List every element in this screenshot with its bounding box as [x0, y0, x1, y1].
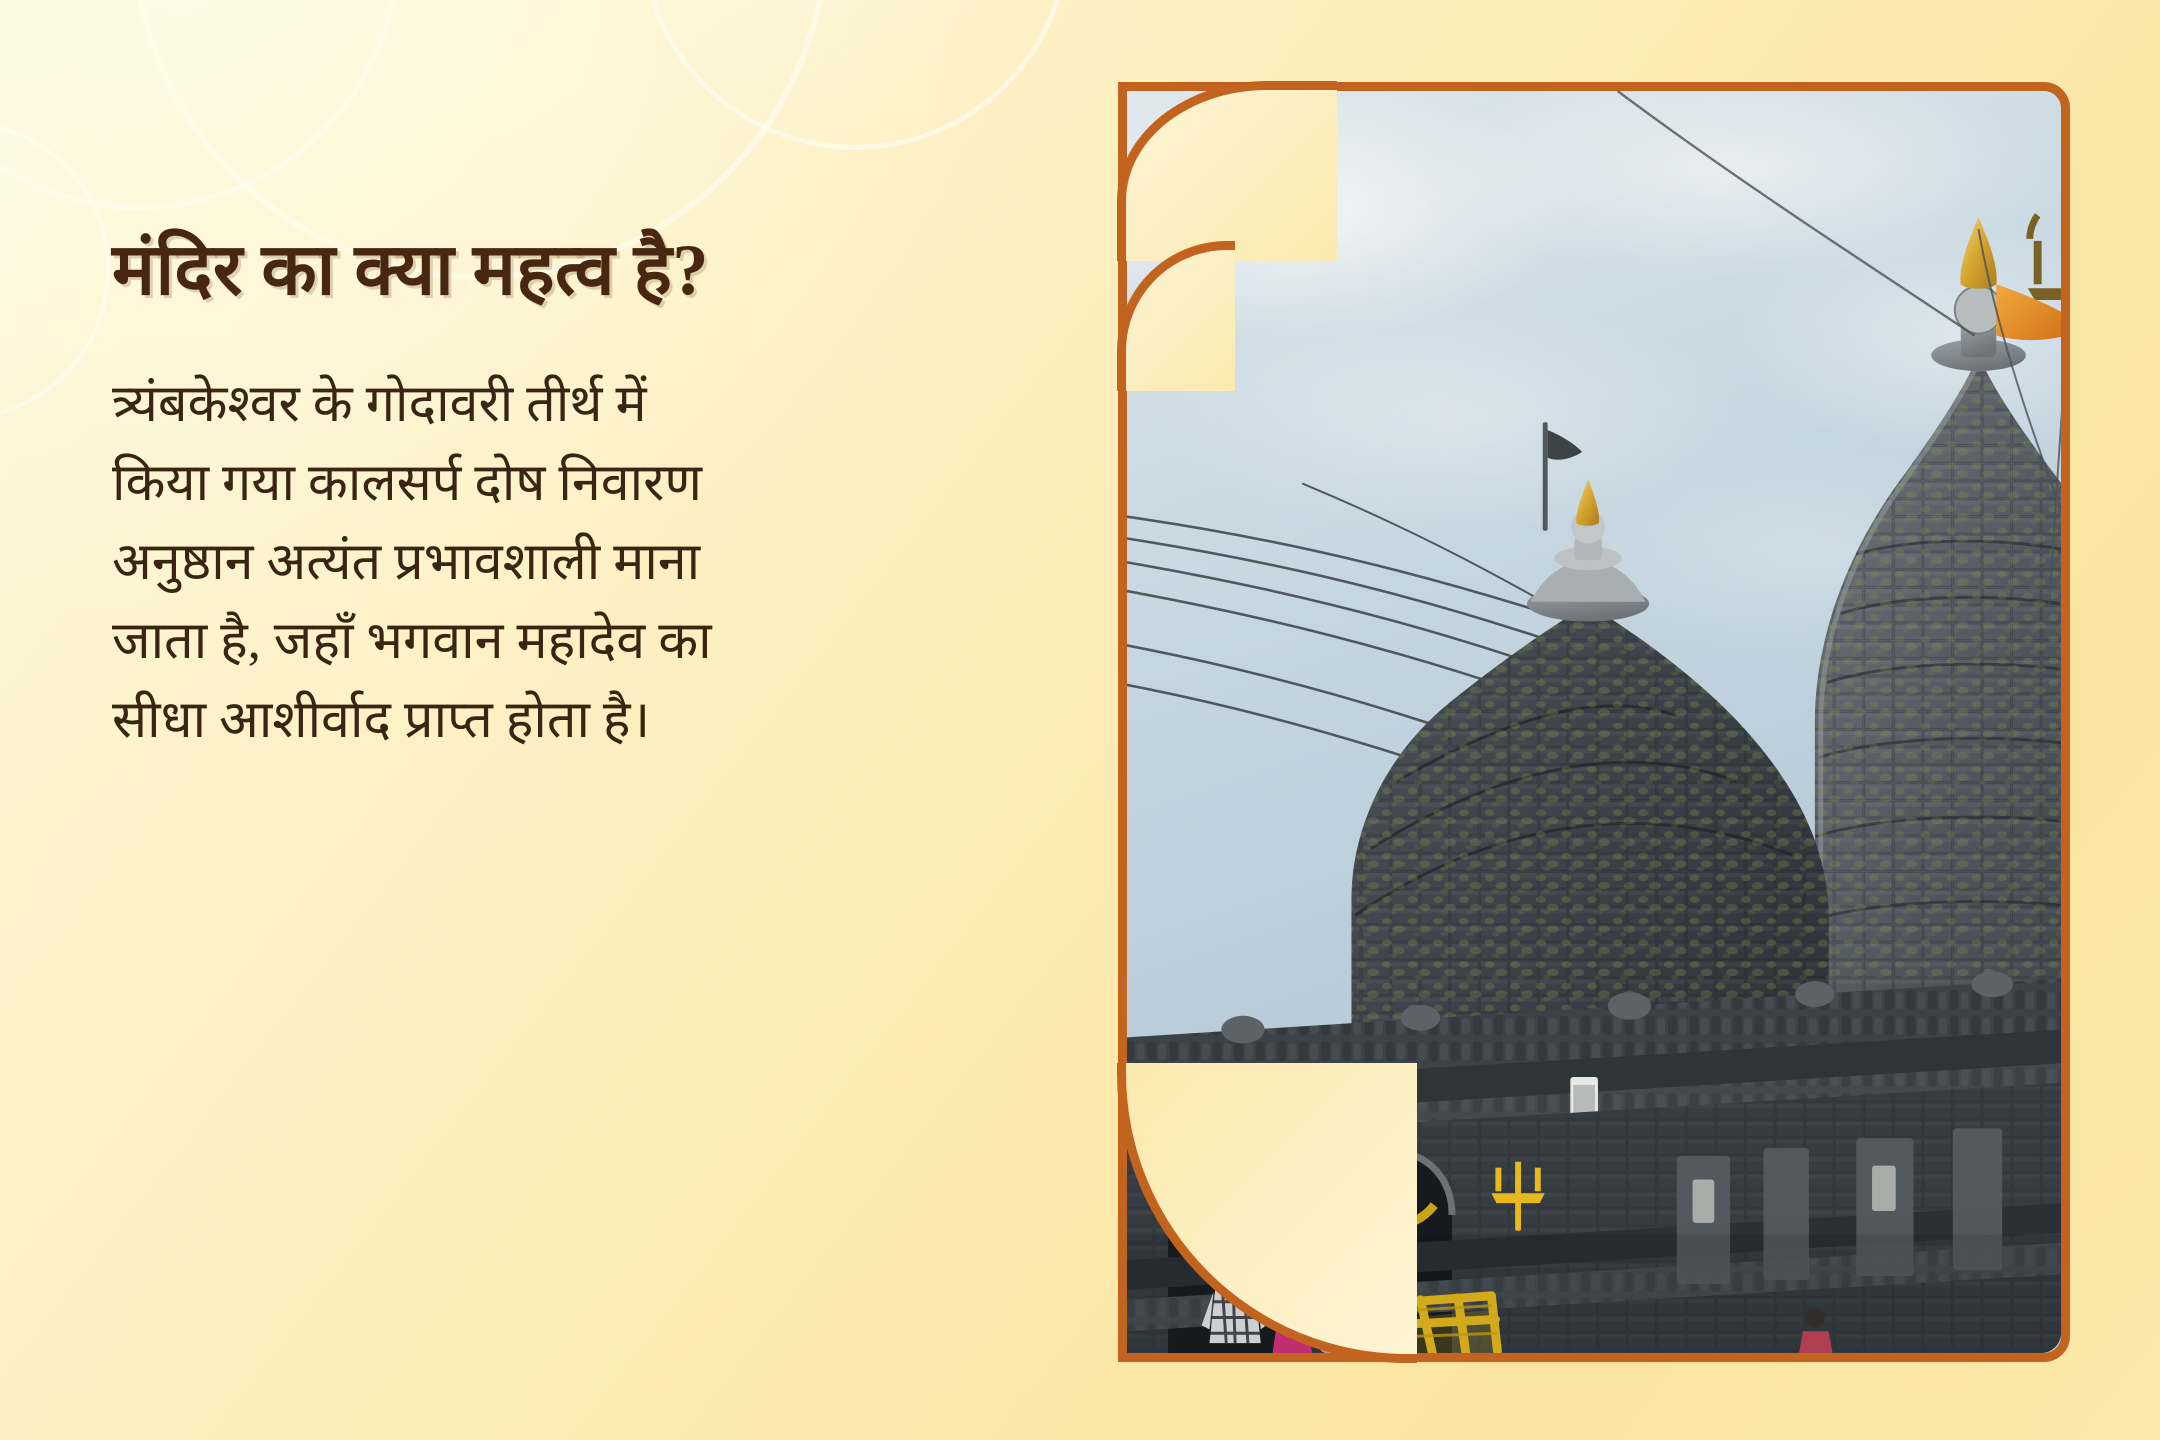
body-paragraph: त्र्यंबकेश्वर के गोदावरी तीर्थ में किया …: [112, 365, 1012, 760]
paragraph-line: किया गया कालसर्प दोष निवारण: [112, 444, 1012, 523]
paragraph-line: अनुष्ठान अत्यंत प्रभावशाली माना: [112, 523, 1012, 602]
paragraph-line: त्र्यंबकेश्वर के गोदावरी तीर्थ में: [112, 365, 1012, 444]
temple-illustration: [1127, 91, 2061, 1353]
temple-photo-frame: [1118, 82, 2070, 1362]
temple-photo: [1127, 91, 2061, 1353]
paragraph-line: जाता है, जहाँ भगवान महादेव का: [112, 602, 1012, 681]
temple-photo-clip: [1127, 91, 2061, 1353]
page-title: मंदिर का क्या महत्व है?: [112, 228, 1022, 313]
text-column: मंदिर का क्या महत्व है? त्र्यंबकेश्वर के…: [112, 228, 1022, 760]
paragraph-line: सीधा आशीर्वाद प्राप्त होता है।: [112, 681, 1012, 760]
